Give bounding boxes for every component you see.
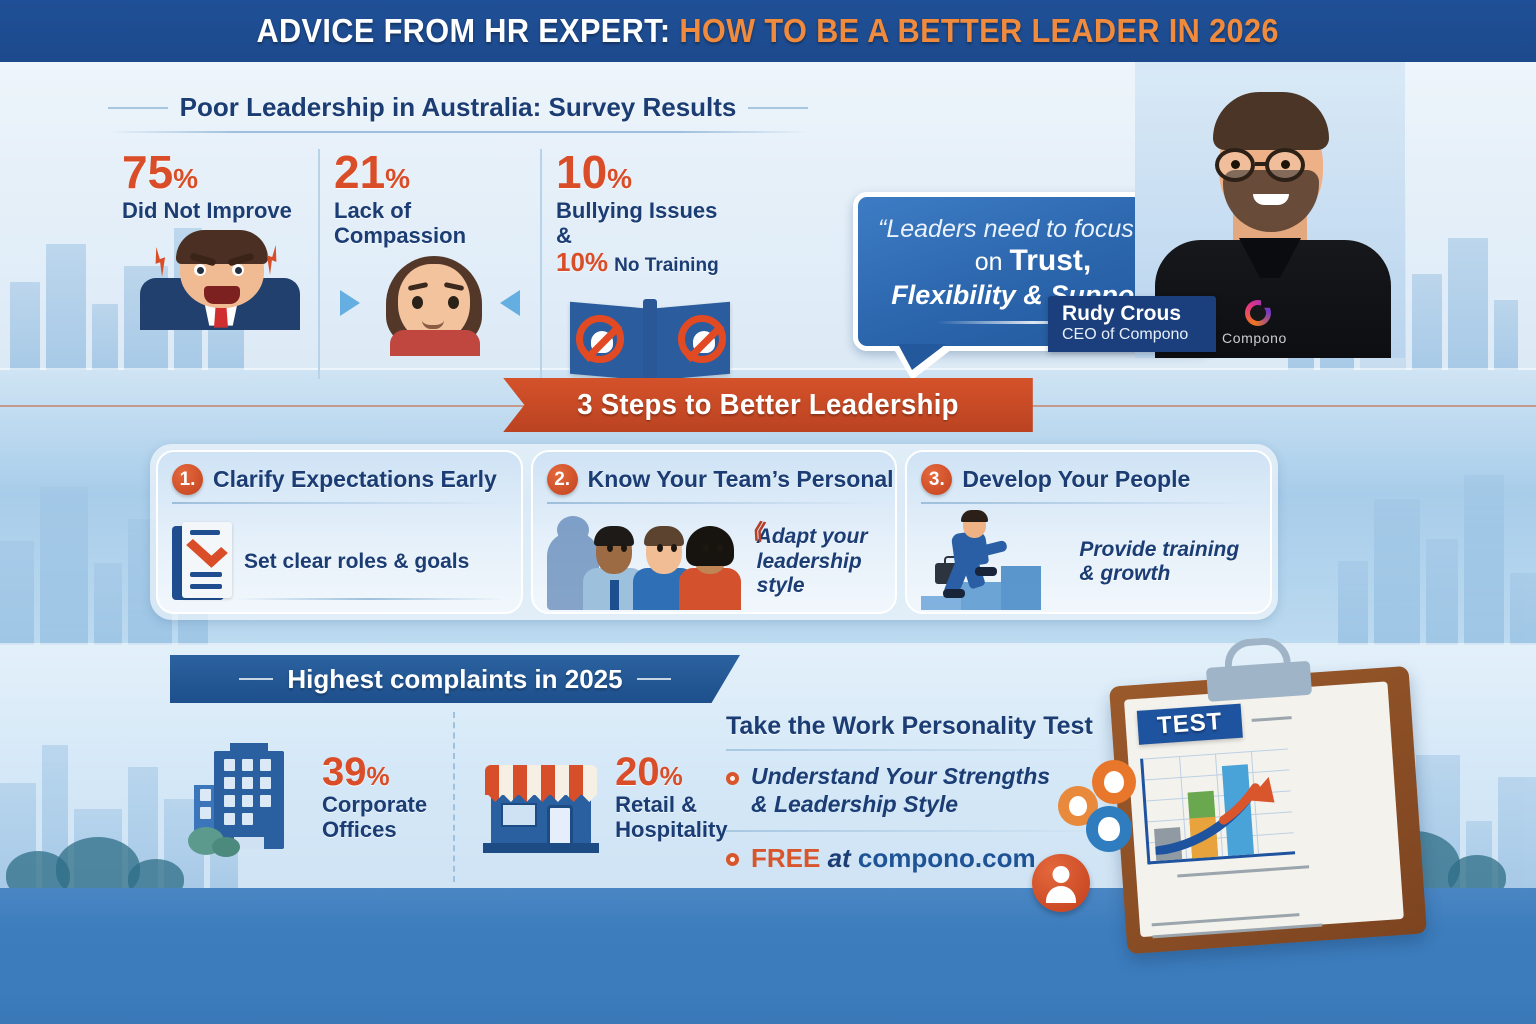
team-people-icon: ⟪ [547,514,747,610]
step-card-3[interactable]: 3. Develop Your People [905,450,1272,614]
complaints-stat-item: 39% Corporate Offices [188,712,453,882]
survey-block: Poor Leadership in Australia: Survey Res… [108,92,808,379]
cta-at-label: at [820,843,858,873]
ceo-role: CEO of Compono [1062,325,1202,344]
cta-free-label: FREE [751,843,820,873]
steps-banner-title: 3 Steps to Better Leadership [577,389,959,422]
chart-trend-arrow [1151,772,1290,855]
angry-man-icon [122,230,304,326]
ceo-name-card: Rudy Crous CEO of Compono [1048,296,1216,352]
title-rule-left [108,107,168,109]
test-badge: TEST [1137,704,1243,745]
cta-title: Take the Work Personality Test [726,712,1106,741]
page-header: Advice from HR Expert: How to be a Bette… [0,0,1536,62]
survey-section-title: Poor Leadership in Australia: Survey Res… [180,92,737,123]
bullet-dot-icon [726,853,739,866]
avatar-icon [1032,854,1090,912]
survey-stat-percent: 75% [122,149,304,195]
page-title-secondary: How to be a Better Leader in 2026 [680,12,1279,49]
step-number: 2. [547,464,578,495]
step-caption: Adapt your leadership style [757,525,882,598]
step-number: 3. [921,464,952,495]
ceo-name: Rudy Crous [1062,302,1202,325]
complaints-stat-percent: 39% [322,752,427,792]
survey-stat-item: 75% Did Not Improve [108,149,318,379]
bullet-dot-icon [726,772,739,785]
decor-circle-orange-2 [1092,760,1136,804]
steps-card-group: 1. Clarify Expectations Early Set clear … [150,444,1278,620]
cta-block: Take the Work Personality Test Understan… [726,712,1106,873]
survey-title-row: Poor Leadership in Australia: Survey Res… [108,92,808,123]
survey-underline [108,131,808,133]
survey-stat-label: Lack of Compassion [334,199,526,248]
test-chart [1140,748,1295,864]
shop-storefront-icon [481,741,601,853]
decor-circle-blue [1086,806,1132,852]
compono-logo-text: Compono [1222,330,1287,346]
checklist-icon [172,522,234,602]
page-title: Advice from HR Expert: How to be a Bette… [257,12,1279,50]
survey-stat-item: 10% Bullying Issues & 10% No Training [540,149,736,379]
survey-stats-row: 75% Did Not Improve [108,149,808,379]
cta-free-line: FREE at compono.com [751,844,1036,873]
survey-stat-percent: 10% [556,149,722,195]
test-clipboard-graphic: TEST [1109,666,1427,954]
cta-website-link[interactable]: compono.com [858,843,1036,873]
survey-stat-label: Bullying Issues & 10% No Training [556,199,722,277]
complaints-title: Highest complaints in 2025 [287,664,622,695]
cta-bullet-row: Understand Your Strengths & Leadership S… [726,763,1106,818]
step-title: Know Your Team’s Personalities [588,466,898,493]
page-title-primary: Advice from HR Expert: [257,12,671,49]
step-title: Develop Your People [962,466,1190,493]
infographic-canvas: Advice from HR Expert: How to be a Bette… [0,0,1536,1024]
step-caption: Set clear roles & goals [244,550,469,574]
clipboard-clamp-icon [1206,661,1312,702]
complaints-stat-percent: 20% [615,752,727,792]
stairs-climber-icon [921,514,1069,610]
complaints-header-band: Highest complaints in 2025 [170,655,740,703]
sad-woman-icon [334,254,526,350]
no-bullying-icon [556,283,722,379]
complaints-stat-label: Retail & Hospitality [615,792,727,843]
step-caption: Provide training & growth [1079,538,1239,587]
complaints-stat-label: Corporate Offices [322,792,427,843]
office-building-icon [188,737,308,857]
survey-stat-percent: 21% [334,149,526,195]
survey-stat-item: 21% Lack of Compassion [318,149,540,379]
survey-stat-label: Did Not Improve [122,199,304,224]
complaints-stat-item: 20% Retail & Hospitality [453,712,753,882]
step-number: 1. [172,464,203,495]
cta-bullet-text: Understand Your Strengths & Leadership S… [751,763,1050,818]
step-card-1[interactable]: 1. Clarify Expectations Early Set clear … [156,450,523,614]
step-card-2[interactable]: 2. Know Your Team’s Personalities [531,450,898,614]
step-title: Clarify Expectations Early [213,466,497,493]
title-rule-right [748,107,808,109]
steps-banner: 3 Steps to Better Leadership [0,378,1536,434]
